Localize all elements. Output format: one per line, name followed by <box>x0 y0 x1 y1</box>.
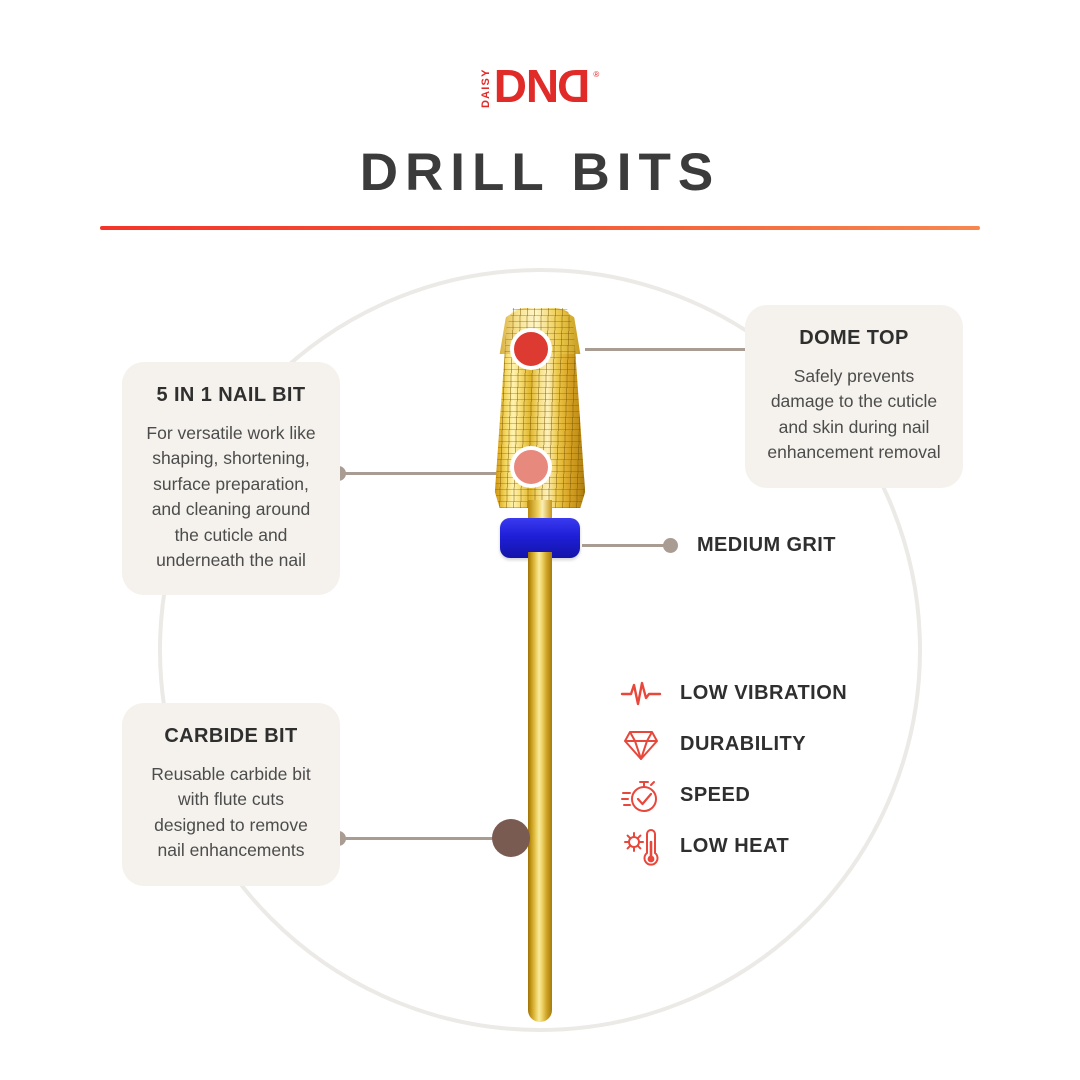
callout-nail-bit-title: 5 IN 1 NAIL BIT <box>142 384 320 407</box>
diamond-icon <box>618 725 664 765</box>
page-title: DRILL BITS <box>0 142 1080 203</box>
callout-dome-top-title: DOME TOP <box>765 327 943 350</box>
callout-carbide-bit-body: Reusable carbide bit with flute cuts des… <box>142 762 320 864</box>
thermometer-sun-icon <box>618 827 664 867</box>
label-medium-grit: MEDIUM GRIT <box>697 534 836 557</box>
brand-logo: DAISY DND ® <box>0 62 1080 112</box>
marker-dot-carbide-bit <box>492 819 530 857</box>
feature-item-low-vibration: LOW VIBRATION <box>618 668 948 719</box>
callout-dome-top-body: Safely prevents damage to the cuticle an… <box>765 364 943 466</box>
callout-nail-bit-body: For versatile work like shaping, shorten… <box>142 421 320 573</box>
feature-label-low-heat: LOW HEAT <box>680 835 789 858</box>
feature-item-speed: SPEED <box>618 770 948 821</box>
feature-item-low-heat: LOW HEAT <box>618 821 948 872</box>
feature-item-durability: DURABILITY <box>618 719 948 770</box>
drill-bit-shaft <box>528 552 552 1022</box>
callout-carbide-bit: CARBIDE BIT Reusable carbide bit with fl… <box>122 703 340 886</box>
callout-nail-bit: 5 IN 1 NAIL BIT For versatile work like … <box>122 362 340 595</box>
callout-carbide-bit-title: CARBIDE BIT <box>142 725 320 748</box>
feature-list: LOW VIBRATION DURABILITY <box>618 668 948 872</box>
leader-line-dome-top <box>585 348 753 351</box>
callout-dome-top: DOME TOP Safely prevents damage to the c… <box>745 305 963 488</box>
feature-label-durability: DURABILITY <box>680 733 806 756</box>
brand-daisy-text: DAISY <box>481 70 492 106</box>
feature-label-speed: SPEED <box>680 784 750 807</box>
marker-dot-dome-top <box>510 328 552 370</box>
brand-dnd-text: DND <box>494 68 591 106</box>
leader-dot-medium-grit <box>663 538 678 553</box>
pulse-wave-icon <box>618 674 664 714</box>
marker-dot-nail-bit <box>510 446 552 488</box>
stopwatch-icon <box>618 776 664 816</box>
infographic-canvas: DAISY DND ® DRILL BITS 5 IN 1 NAIL BIT F… <box>0 0 1080 1080</box>
drill-bit-illustration <box>470 300 610 1030</box>
title-divider <box>100 226 980 230</box>
trademark-symbol: ® <box>593 70 599 79</box>
feature-label-low-vibration: LOW VIBRATION <box>680 682 847 705</box>
